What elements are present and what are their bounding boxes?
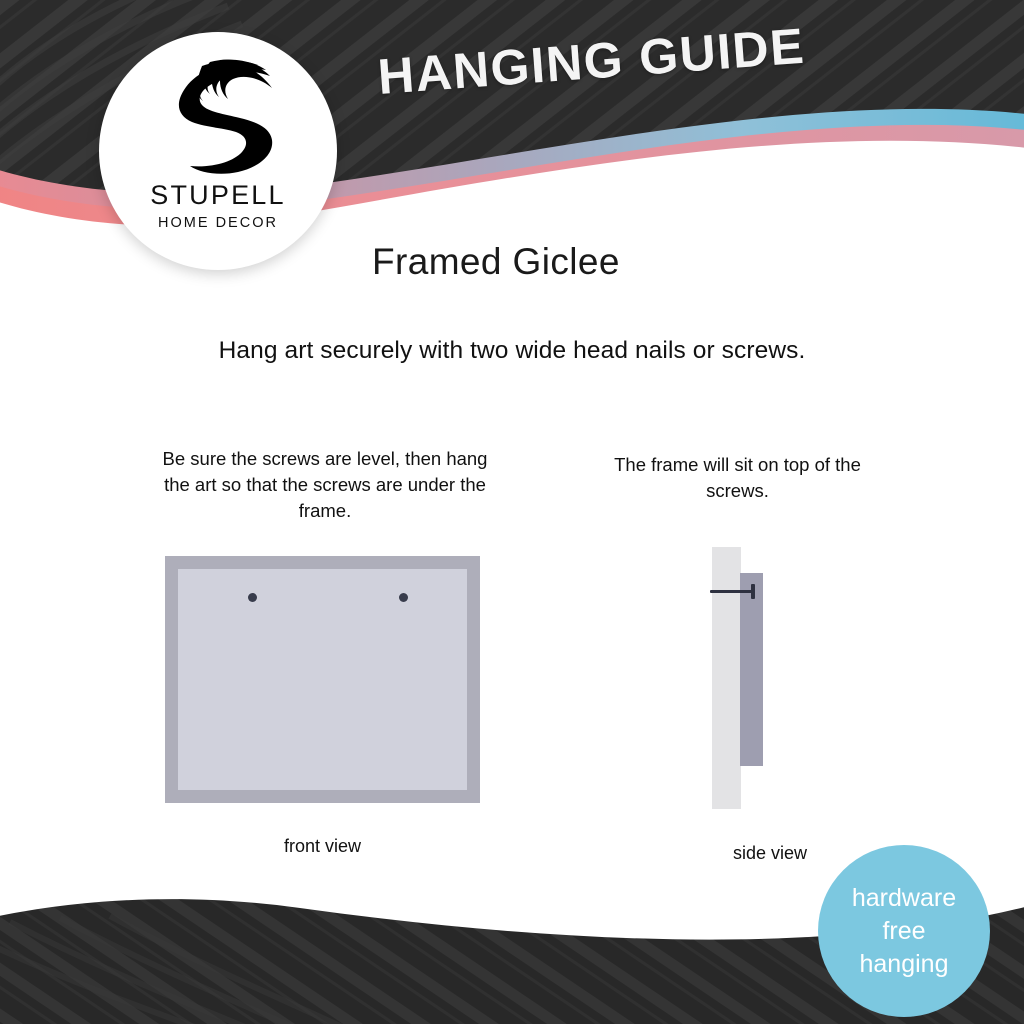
front-view-instruction: Be sure the screws are level, then hang …: [150, 446, 500, 524]
side-view-diagram: [660, 540, 880, 815]
lead-instruction: Hang art securely with two wide head nai…: [0, 337, 1024, 365]
front-view-label: front view: [165, 836, 480, 857]
screw-hole-left-icon: [248, 593, 257, 602]
frame-face: [178, 569, 467, 790]
logo-tagline: HOME DECOR: [158, 215, 278, 231]
product-name: Framed Giclee: [372, 241, 620, 283]
logo-wordmark: STUPELL: [150, 180, 285, 211]
nail-shaft-icon: [710, 590, 754, 593]
screw-hole-right-icon: [399, 593, 408, 602]
badge-line-3: hanging: [860, 948, 949, 981]
frame-profile: [740, 573, 763, 766]
hardware-free-badge: hardware free hanging: [818, 845, 990, 1017]
hanging-guide-page: STUPELL HOME DECOR HANGING GUIDE Framed …: [0, 0, 1024, 1024]
nail-head-icon: [751, 584, 755, 599]
badge-line-1: hardware: [852, 882, 956, 915]
wall-surface: [712, 547, 741, 809]
side-view-label: side view: [660, 843, 880, 864]
badge-line-2: free: [882, 915, 925, 948]
side-view-instruction: The frame will sit on top of the screws.: [585, 452, 890, 504]
brand-logo-badge: STUPELL HOME DECOR: [99, 32, 337, 270]
front-view-diagram: [165, 556, 480, 803]
stupell-swoosh-icon: [154, 58, 282, 176]
